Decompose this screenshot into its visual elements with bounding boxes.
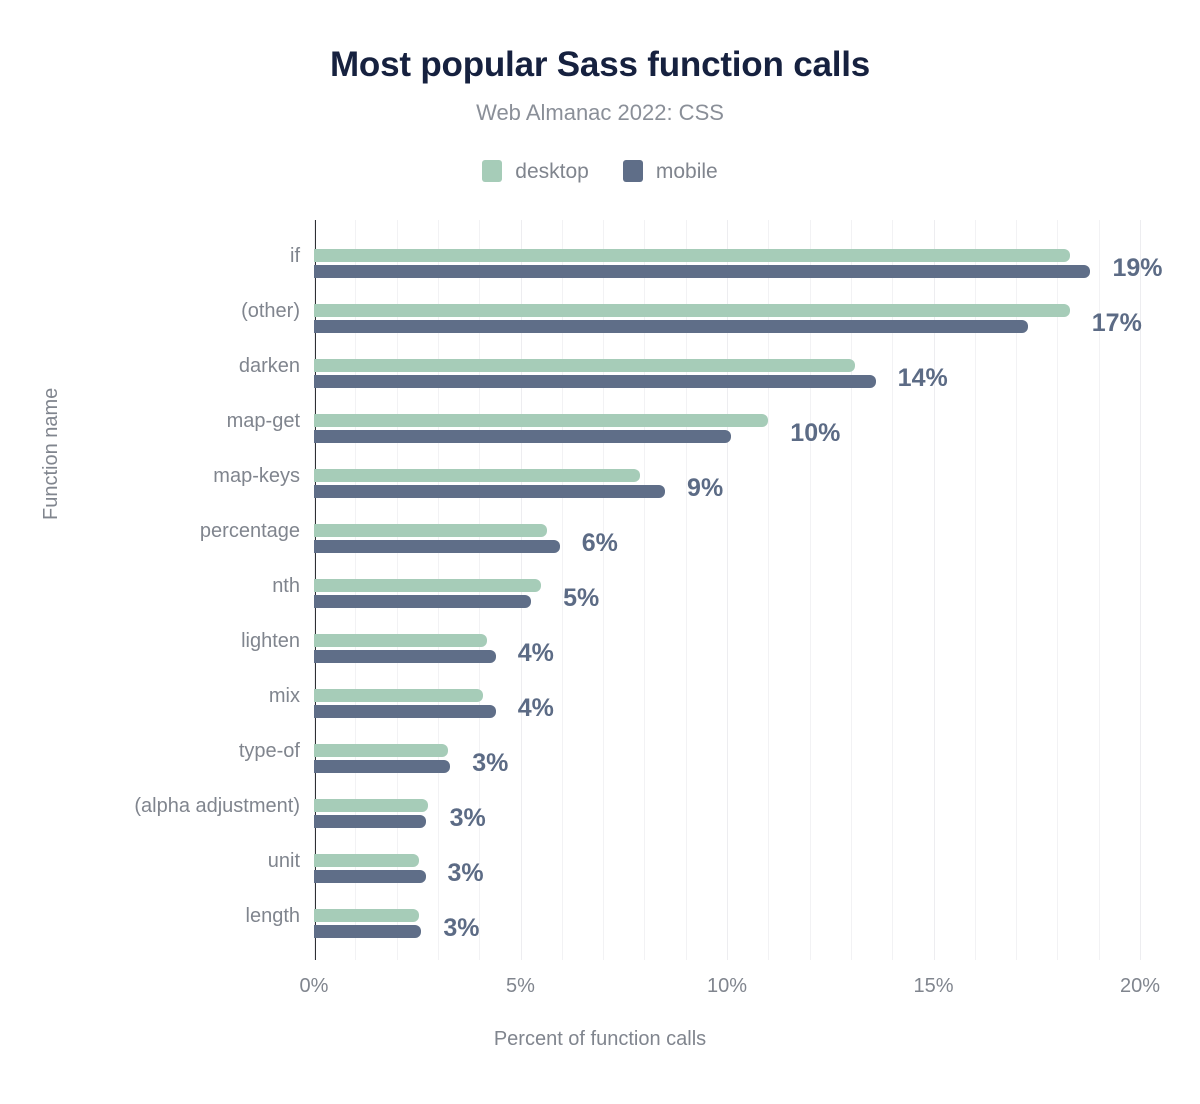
x-tick-label: 15%	[913, 976, 953, 996]
chart-title: Most popular Sass function calls	[0, 44, 1200, 86]
x-axis-title: Percent of function calls	[0, 1028, 1200, 1051]
bar-mobile[interactable]	[314, 485, 665, 498]
y-tick-label: type-of	[239, 741, 300, 761]
bar-value-label: 4%	[518, 696, 554, 721]
bar-mobile[interactable]	[314, 760, 450, 773]
bar-group: 4%	[314, 664, 1140, 719]
legend-swatch-mobile	[623, 160, 643, 182]
bar-desktop[interactable]	[314, 304, 1070, 317]
bar-group: 4%	[314, 609, 1140, 664]
bar-group: 3%	[314, 719, 1140, 774]
bar-mobile[interactable]	[314, 320, 1028, 333]
bar-value-label: 5%	[563, 586, 599, 611]
y-tick-label: lighten	[241, 631, 300, 651]
bar-group: 17%	[314, 279, 1140, 334]
bar-group: 3%	[314, 774, 1140, 829]
y-tick-label: map-keys	[213, 466, 300, 486]
bar-desktop[interactable]	[314, 689, 483, 702]
y-tick-label: map-get	[227, 411, 300, 431]
bar-value-label: 3%	[450, 806, 486, 831]
x-tick-label: 20%	[1120, 976, 1160, 996]
bar-value-label: 17%	[1092, 311, 1142, 336]
x-tick-label: 0%	[300, 976, 329, 996]
bar-mobile[interactable]	[314, 925, 421, 938]
bar-desktop[interactable]	[314, 854, 419, 867]
y-tick-label: darken	[239, 356, 300, 376]
y-tick-label: (other)	[241, 301, 300, 321]
bar-desktop[interactable]	[314, 469, 640, 482]
chart-legend: desktop mobile	[0, 160, 1200, 182]
bar-mobile[interactable]	[314, 430, 731, 443]
y-tick-label: percentage	[200, 521, 300, 541]
bar-value-label: 10%	[790, 421, 840, 446]
bar-value-label: 4%	[518, 641, 554, 666]
bar-value-label: 9%	[687, 476, 723, 501]
x-tick-label: 10%	[707, 976, 747, 996]
legend-swatch-desktop	[482, 160, 502, 182]
bar-group: 14%	[314, 334, 1140, 389]
bar-desktop[interactable]	[314, 744, 448, 757]
bar-value-label: 6%	[582, 531, 618, 556]
legend-item-desktop[interactable]: desktop	[482, 160, 589, 182]
bar-mobile[interactable]	[314, 650, 496, 663]
bar-desktop[interactable]	[314, 909, 419, 922]
bar-mobile[interactable]	[314, 870, 426, 883]
y-tick-label: length	[246, 906, 301, 926]
bar-mobile[interactable]	[314, 595, 531, 608]
y-tick-label: mix	[269, 686, 300, 706]
bar-desktop[interactable]	[314, 524, 547, 537]
bar-group: 3%	[314, 884, 1140, 939]
bar-value-label: 3%	[448, 861, 484, 886]
bar-mobile[interactable]	[314, 540, 560, 553]
bar-desktop[interactable]	[314, 249, 1070, 262]
bar-desktop[interactable]	[314, 634, 487, 647]
bar-value-label: 3%	[472, 751, 508, 776]
bar-group: 10%	[314, 389, 1140, 444]
plot-area: 19%17%14%10%9%6%5%4%4%3%3%3%3%	[314, 220, 1140, 960]
x-tick-label: 5%	[506, 976, 535, 996]
chart-header: Most popular Sass function calls Web Alm…	[0, 0, 1200, 126]
y-axis-title: Function name	[40, 388, 63, 520]
bar-mobile[interactable]	[314, 815, 426, 828]
bar-desktop[interactable]	[314, 414, 768, 427]
bar-desktop[interactable]	[314, 579, 541, 592]
bar-group: 5%	[314, 554, 1140, 609]
bar-value-label: 19%	[1112, 256, 1162, 281]
bar-mobile[interactable]	[314, 375, 876, 388]
bar-desktop[interactable]	[314, 359, 855, 372]
legend-label-mobile: mobile	[656, 161, 718, 182]
chart-subtitle: Web Almanac 2022: CSS	[0, 100, 1200, 126]
bar-mobile[interactable]	[314, 265, 1090, 278]
bar-value-label: 14%	[898, 366, 948, 391]
bar-mobile[interactable]	[314, 705, 496, 718]
y-tick-label: if	[290, 246, 300, 266]
y-tick-label: (alpha adjustment)	[134, 796, 300, 816]
legend-item-mobile[interactable]: mobile	[623, 160, 718, 182]
bar-desktop[interactable]	[314, 799, 428, 812]
y-tick-label: unit	[268, 851, 300, 871]
bar-group: 3%	[314, 829, 1140, 884]
legend-label-desktop: desktop	[515, 161, 589, 182]
y-tick-label: nth	[272, 576, 300, 596]
bar-value-label: 3%	[443, 916, 479, 941]
bar-group: 6%	[314, 499, 1140, 554]
bar-group: 9%	[314, 444, 1140, 499]
bar-group: 19%	[314, 224, 1140, 279]
